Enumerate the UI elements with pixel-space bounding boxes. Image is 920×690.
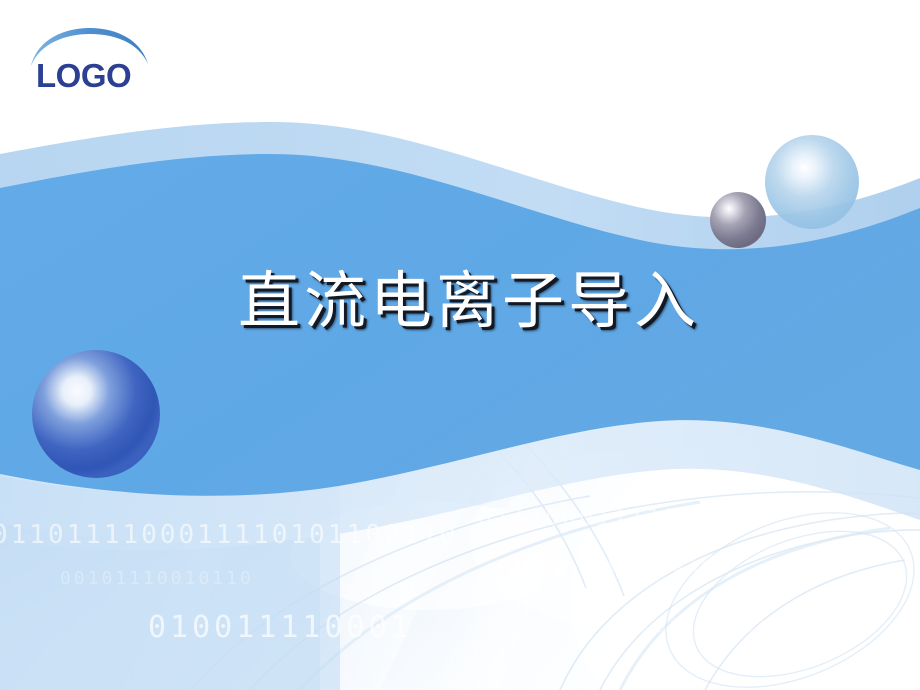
binary-decoration-text: 10010011101001 <box>640 615 842 637</box>
binary-decoration-text: 01100101010 <box>545 552 717 576</box>
sphere-large-dark-blue <box>32 350 160 478</box>
presentation-slide: LOGO 0110111100011110101100110 011100011… <box>0 0 920 690</box>
binary-decoration-text: 010011110001 <box>148 610 413 645</box>
sphere-light-blue <box>765 135 859 229</box>
logo[interactable]: LOGO <box>26 22 156 98</box>
binary-decoration-text: 0110111100011110101100110 <box>0 520 458 550</box>
binary-decoration-text: 00101110010110 <box>60 568 254 589</box>
logo-text: LOGO <box>36 59 131 92</box>
binary-decoration-text: 011100011111010 <box>478 505 731 531</box>
sphere-gray <box>710 192 766 248</box>
